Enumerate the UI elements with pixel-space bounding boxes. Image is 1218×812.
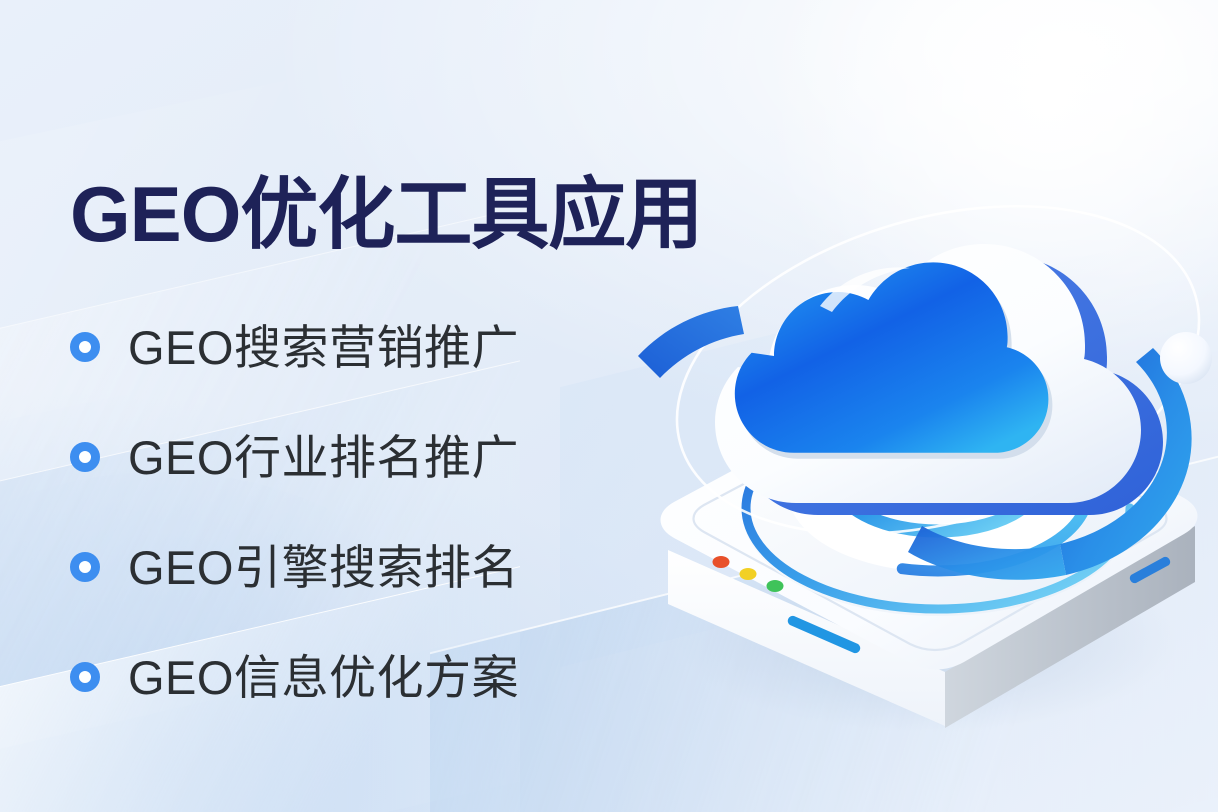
- page-title: GEO优化工具应用: [70, 174, 702, 256]
- ring-bullet-icon: [70, 442, 100, 472]
- white-orbit-sphere: [1160, 332, 1212, 384]
- list-item: GEO行业排名推广: [70, 402, 519, 512]
- feature-label: GEO信息优化方案: [128, 654, 519, 701]
- ring-bullet-icon: [70, 552, 100, 582]
- status-dot-red: [713, 556, 730, 568]
- ring-bullet-icon: [70, 662, 100, 692]
- feature-label: GEO引擎搜索排名: [128, 544, 519, 591]
- ring-bullet-icon: [70, 332, 100, 362]
- geo-promo-banner: GEO优化工具应用 GEO搜索营销推广 GEO行业排名推广 GEO引擎搜索排名 …: [0, 0, 1218, 812]
- feature-label: GEO搜索营销推广: [128, 324, 519, 371]
- text-content-block: GEO优化工具应用 GEO搜索营销推广 GEO行业排名推广 GEO引擎搜索排名 …: [0, 0, 660, 812]
- status-dot-yellow: [740, 568, 757, 580]
- feature-label: GEO行业排名推广: [128, 434, 519, 481]
- list-item: GEO搜索营销推广: [70, 292, 519, 402]
- cloud-3d-group: [715, 244, 1163, 515]
- list-item: GEO信息优化方案: [70, 622, 519, 732]
- list-item: GEO引擎搜索排名: [70, 512, 519, 622]
- status-dot-green: [767, 580, 784, 592]
- feature-list: GEO搜索营销推广 GEO行业排名推广 GEO引擎搜索排名 GEO信息优化方案: [70, 292, 519, 732]
